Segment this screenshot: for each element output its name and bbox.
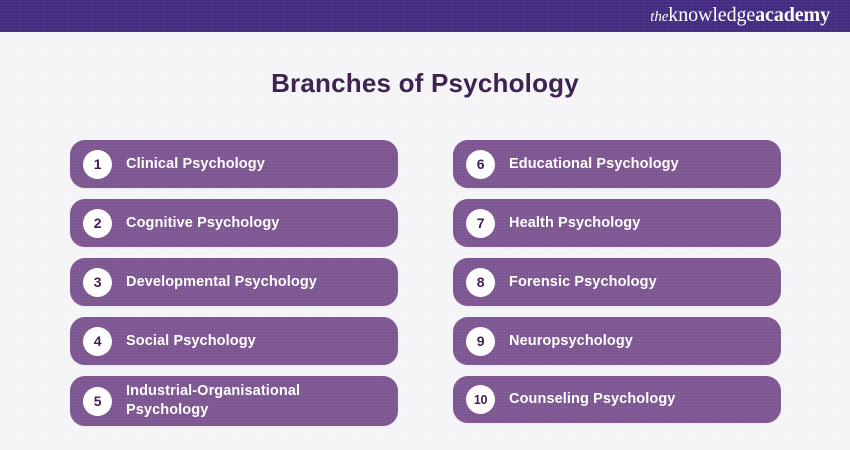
- list-item[interactable]: 4 Social Psychology: [70, 317, 398, 365]
- item-number-badge: 2: [83, 209, 112, 238]
- item-number-badge: 3: [83, 268, 112, 297]
- page-title: Branches of Psychology: [0, 68, 850, 99]
- right-column: 6 Educational Psychology 7 Health Psycho…: [453, 140, 781, 426]
- list-item[interactable]: 10 Counseling Psychology: [453, 376, 781, 423]
- item-label: Neuropsychology: [509, 332, 633, 351]
- item-label: Forensic Psychology: [509, 273, 657, 292]
- brand-logo: theknowledgeacademy: [650, 5, 830, 27]
- item-number-badge: 9: [466, 327, 495, 356]
- item-label: Developmental Psychology: [126, 273, 317, 292]
- logo-knowledge: knowledge: [668, 4, 755, 26]
- item-number-badge: 4: [83, 327, 112, 356]
- list-item[interactable]: 1 Clinical Psychology: [70, 140, 398, 188]
- item-label: Social Psychology: [126, 332, 256, 351]
- item-number-badge: 8: [466, 268, 495, 297]
- list-item[interactable]: 9 Neuropsychology: [453, 317, 781, 365]
- item-label: Health Psychology: [509, 214, 640, 233]
- item-number-badge: 5: [83, 387, 112, 416]
- list-item[interactable]: 2 Cognitive Psychology: [70, 199, 398, 247]
- item-number-badge: 1: [83, 150, 112, 179]
- item-number-badge: 6: [466, 150, 495, 179]
- item-number-badge: 7: [466, 209, 495, 238]
- item-label: Counseling Psychology: [509, 390, 675, 409]
- list-item[interactable]: 6 Educational Psychology: [453, 140, 781, 188]
- logo-academy: academy: [755, 4, 830, 26]
- list-item[interactable]: 3 Developmental Psychology: [70, 258, 398, 306]
- item-label: Clinical Psychology: [126, 155, 265, 174]
- logo-the: the: [650, 9, 668, 25]
- page-background: theknowledgeacademy Branches of Psycholo…: [0, 0, 850, 450]
- item-label: Cognitive Psychology: [126, 214, 279, 233]
- item-number-badge: 10: [466, 385, 495, 414]
- item-label: Educational Psychology: [509, 155, 679, 174]
- left-column: 1 Clinical Psychology 2 Cognitive Psycho…: [70, 140, 398, 426]
- item-label: Industrial-Organisational Psychology: [126, 382, 384, 420]
- list-item[interactable]: 8 Forensic Psychology: [453, 258, 781, 306]
- branches-list: 1 Clinical Psychology 2 Cognitive Psycho…: [70, 140, 781, 426]
- header-band: theknowledgeacademy: [0, 0, 850, 32]
- list-item[interactable]: 7 Health Psychology: [453, 199, 781, 247]
- list-item[interactable]: 5 Industrial-Organisational Psychology: [70, 376, 398, 426]
